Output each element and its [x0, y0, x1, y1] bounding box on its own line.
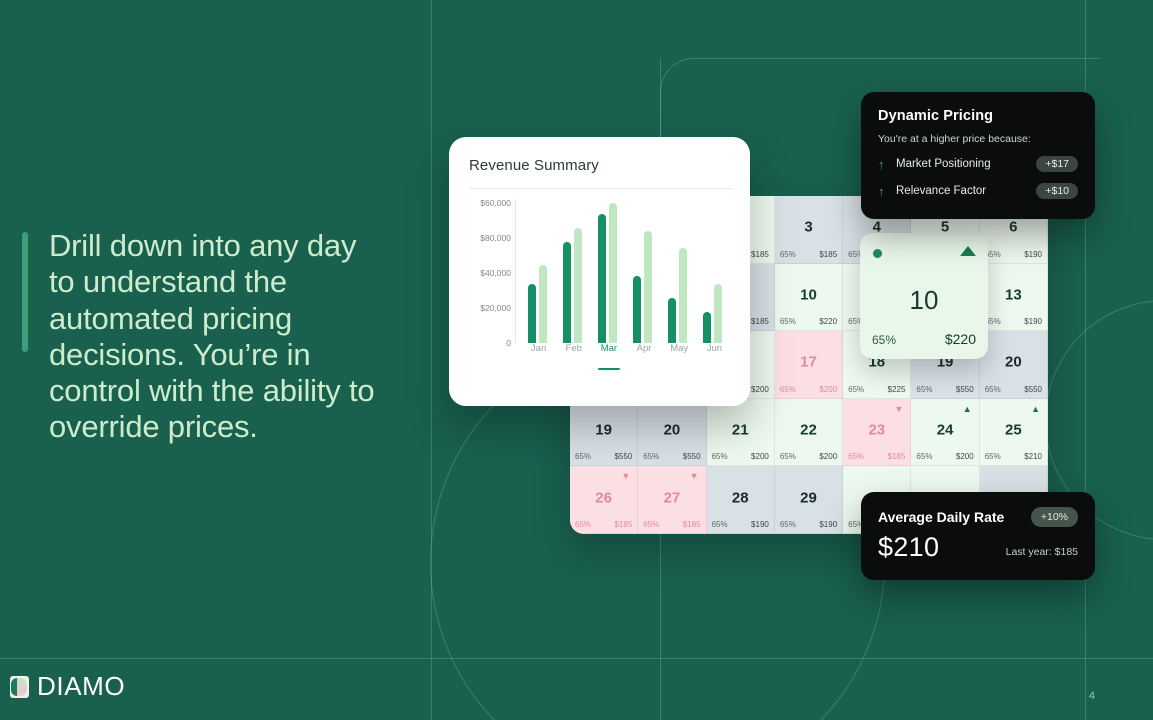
triangle-up-icon: [960, 246, 976, 256]
day-detail-occupancy: 65%: [872, 333, 896, 347]
chart-x-tick[interactable]: Jan: [524, 343, 554, 365]
calendar-day-cell[interactable]: ▲2465%$200: [911, 399, 979, 467]
trend-icon: ▼: [621, 472, 630, 481]
chart-y-tick: $20,000: [480, 303, 511, 313]
calendar-day-number: 22: [775, 422, 842, 439]
calendar-day-number: 27: [638, 489, 705, 506]
calendar-occupancy: 65%: [985, 452, 1001, 461]
calendar-day-number: 20: [638, 422, 705, 439]
calendar-price: $185: [819, 250, 837, 259]
chart-bar-actual: [598, 214, 606, 343]
brand-logo: DIAMO: [10, 671, 125, 702]
calendar-price: $550: [1024, 385, 1042, 394]
calendar-price: $185: [614, 520, 632, 529]
chart-bar-group: [524, 203, 554, 343]
dynamic-pricing-factor-label: Market Positioning: [896, 158, 1036, 170]
calendar-day-number: 25: [980, 422, 1047, 439]
dynamic-pricing-title: Dynamic Pricing: [878, 108, 1078, 124]
calendar-price: $185: [751, 317, 769, 326]
average-daily-rate-card: Average Daily Rate +10% $210 Last year: …: [861, 492, 1095, 580]
calendar-day-number: 26: [570, 489, 637, 506]
calendar-price: $200: [751, 452, 769, 461]
calendar-price: $550: [956, 385, 974, 394]
calendar-day-number: 29: [775, 489, 842, 506]
calendar-day-cell[interactable]: 2065%$550: [638, 399, 706, 467]
chart-y-tick: $60,000: [480, 198, 511, 208]
calendar-price: $210: [1024, 452, 1042, 461]
brand-name: DIAMO: [37, 671, 125, 702]
calendar-day-cell[interactable]: ▲2565%$210: [980, 399, 1048, 467]
chart-bar-forecast: [574, 228, 582, 343]
calendar-day-number: 3: [775, 219, 842, 236]
calendar-day-number: 24: [911, 422, 978, 439]
chart-bar-group: [559, 203, 589, 343]
dynamic-pricing-row: ↑Relevance Factor+$10: [878, 183, 1078, 199]
day-detail-popover[interactable]: 10 65% $220: [860, 233, 988, 359]
calendar-day-number: 19: [570, 422, 637, 439]
chart-x-tick[interactable]: Jun: [699, 343, 729, 365]
chart-bar-group: [699, 203, 729, 343]
trend-icon: ▲: [963, 405, 972, 414]
chart-bar-forecast: [714, 284, 722, 343]
revenue-summary-card[interactable]: Revenue Summary $60,000$80,000$40,000$20…: [449, 137, 750, 406]
calendar-occupancy: 65%: [848, 385, 864, 394]
calendar-price: $185: [683, 520, 701, 529]
chart-y-tick: $40,000: [480, 268, 511, 278]
dynamic-pricing-factor-label: Relevance Factor: [896, 185, 1036, 197]
page-title: Drill down into any day to understand th…: [49, 228, 389, 446]
trend-icon: ▲: [1031, 405, 1040, 414]
accent-bar: [22, 232, 28, 352]
calendar-occupancy: 65%: [712, 452, 728, 461]
page-number: 4: [1089, 690, 1095, 702]
calendar-occupancy: 65%: [916, 452, 932, 461]
chart-bar-forecast: [539, 265, 547, 343]
day-detail-price: $220: [945, 331, 976, 347]
calendar-price: $550: [614, 452, 632, 461]
chart-x-tick[interactable]: Mar: [594, 343, 624, 365]
chart-y-tick: 0: [506, 338, 511, 348]
calendar-day-number: 28: [707, 489, 774, 506]
adr-header: Average Daily Rate +10%: [878, 507, 1078, 527]
calendar-day-cell[interactable]: 2265%$200: [775, 399, 843, 467]
calendar-occupancy: 65%: [712, 520, 728, 529]
adr-body: $210 Last year: $185: [878, 532, 1078, 563]
calendar-day-cell[interactable]: 2165%$200: [707, 399, 775, 467]
chart-bar-forecast: [644, 231, 652, 343]
calendar-price: $190: [1024, 250, 1042, 259]
arrow-up-icon: ↑: [878, 157, 896, 172]
calendar-price: $185: [888, 452, 906, 461]
calendar-occupancy: 65%: [643, 452, 659, 461]
chart-bar-actual: [563, 242, 571, 343]
calendar-day-cell[interactable]: 2865%$190: [707, 466, 775, 534]
dynamic-pricing-subtitle: You're at a higher price because:: [878, 133, 1078, 145]
calendar-day-cell[interactable]: 1765%$200: [775, 331, 843, 399]
chart-bar-group: [664, 203, 694, 343]
calendar-occupancy: 65%: [643, 520, 659, 529]
calendar-price: $200: [819, 452, 837, 461]
dynamic-pricing-amount-badge: +$10: [1036, 183, 1078, 199]
calendar-price: $225: [888, 385, 906, 394]
calendar-occupancy: 65%: [780, 250, 796, 259]
bg-vertical-line-left: [431, 0, 432, 720]
calendar-day-number: 20: [980, 354, 1047, 371]
chart-plot-area: $60,000$80,000$40,000$20,0000 JanFebMarA…: [469, 203, 732, 365]
dynamic-pricing-tooltip: Dynamic Pricing You're at a higher price…: [861, 92, 1095, 219]
calendar-price: $550: [683, 452, 701, 461]
bg-horizontal-line: [0, 658, 1153, 659]
chart-bars: [521, 203, 732, 343]
chart-x-tick[interactable]: May: [664, 343, 694, 365]
calendar-day-cell[interactable]: 1065%$220: [775, 264, 843, 332]
dynamic-pricing-amount-badge: +$17: [1036, 156, 1078, 172]
dot-indicator-icon: [873, 249, 882, 258]
chart-bar-actual: [668, 298, 676, 343]
calendar-price: $185: [751, 250, 769, 259]
chart-bar-forecast: [679, 248, 687, 343]
chart-bar-group: [594, 203, 624, 343]
arrow-up-icon: ↑: [878, 184, 896, 199]
calendar-occupancy: 65%: [916, 385, 932, 394]
chart-bar-group: [629, 203, 659, 343]
chart-x-axis: JanFebMarAprMayJun: [521, 343, 732, 365]
chart-bar-actual: [528, 284, 536, 343]
trend-icon: ▼: [690, 472, 699, 481]
calendar-price: $190: [1024, 317, 1042, 326]
calendar-day-number: 13: [980, 286, 1047, 303]
calendar-occupancy: 65%: [780, 452, 796, 461]
calendar-day-cell[interactable]: ▼2765%$185: [638, 466, 706, 534]
chart-y-tick: $80,000: [480, 233, 511, 243]
calendar-day-number: 23: [843, 422, 910, 439]
calendar-day-cell[interactable]: 2065%$550: [980, 331, 1048, 399]
chart-axis-line: [515, 199, 516, 343]
chart-x-tick[interactable]: Feb: [559, 343, 589, 365]
calendar-occupancy: 65%: [848, 452, 864, 461]
trend-icon: ▼: [895, 405, 904, 414]
day-detail-day: 10: [860, 285, 988, 316]
adr-value: $210: [878, 532, 939, 563]
dynamic-pricing-rows: ↑Market Positioning+$17↑Relevance Factor…: [878, 156, 1078, 199]
chart-y-axis: $60,000$80,000$40,000$20,0000: [469, 203, 515, 343]
diamo-mark-icon: [10, 676, 29, 698]
adr-comparison: Last year: $185: [1006, 546, 1078, 563]
calendar-day-number: 21: [707, 422, 774, 439]
calendar-price: $200: [819, 385, 837, 394]
calendar-day-cell[interactable]: 1965%$550: [570, 399, 638, 467]
calendar-day-number: 10: [775, 286, 842, 303]
calendar-price: $220: [819, 317, 837, 326]
calendar-occupancy: 65%: [575, 520, 591, 529]
calendar-occupancy: 65%: [780, 385, 796, 394]
calendar-price: $190: [819, 520, 837, 529]
calendar-day-cell[interactable]: 2965%$190: [775, 466, 843, 534]
adr-change-badge: +10%: [1031, 507, 1078, 527]
chart-bar-actual: [633, 276, 641, 343]
calendar-occupancy: 65%: [985, 385, 1001, 394]
calendar-day-cell[interactable]: 1365%$190: [980, 264, 1048, 332]
chart-x-tick[interactable]: Apr: [629, 343, 659, 365]
calendar-day-cell[interactable]: ▼2365%$185: [843, 399, 911, 467]
chart-bar-actual: [703, 312, 711, 343]
calendar-price: $200: [956, 452, 974, 461]
headline-block: Drill down into any day to understand th…: [22, 228, 389, 446]
calendar-day-number: 6: [980, 219, 1047, 236]
calendar-occupancy: 65%: [780, 520, 796, 529]
calendar-day-cell[interactable]: 365%$185: [775, 196, 843, 264]
calendar-price: $200: [751, 385, 769, 394]
calendar-occupancy: 65%: [575, 452, 591, 461]
adr-title: Average Daily Rate: [878, 509, 1004, 525]
chart-bar-forecast: [609, 203, 617, 343]
chart-divider: [469, 188, 732, 189]
calendar-occupancy: 65%: [780, 317, 796, 326]
dynamic-pricing-row: ↑Market Positioning+$17: [878, 156, 1078, 172]
calendar-day-cell[interactable]: ▼2665%$185: [570, 466, 638, 534]
chart-title: Revenue Summary: [469, 157, 732, 174]
calendar-price: $190: [751, 520, 769, 529]
calendar-day-number: 17: [775, 354, 842, 371]
